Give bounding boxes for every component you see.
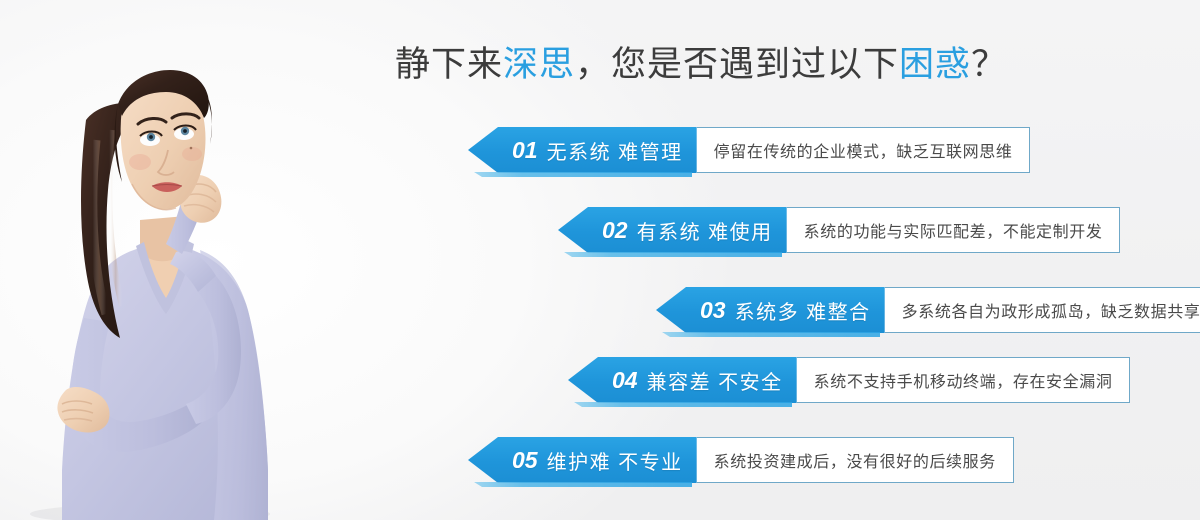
pain-point-tag[interactable]: 03 系统多 难整合 — [656, 287, 885, 333]
tag-bottom-lip — [474, 482, 692, 487]
tag-bottom-lip — [474, 172, 692, 177]
pain-point-tag[interactable]: 01 无系统 难管理 — [468, 127, 697, 173]
pain-point-tag[interactable]: 05 维护难 不专业 — [468, 437, 697, 483]
pain-point-description: 停留在传统的企业模式，缺乏互联网思维 — [697, 127, 1031, 173]
headline-part-2: ，您是否遇到过以下 — [575, 45, 899, 84]
pain-point-number: 04 — [612, 367, 638, 394]
tag-bottom-lip — [662, 332, 880, 337]
pain-point-number: 01 — [512, 137, 538, 164]
pain-point-number: 03 — [700, 297, 726, 324]
pain-point-title: 维护难 不专业 — [547, 446, 683, 475]
pain-point-number: 05 — [512, 447, 538, 474]
headline-accent-2: 困惑 — [899, 45, 971, 84]
pain-point-tag[interactable]: 02 有系统 难使用 — [558, 207, 787, 253]
pain-point-row[interactable]: 03 系统多 难整合 多系统各自为政形成孤岛，缺乏数据共享 — [656, 287, 1200, 333]
pain-point-description: 系统不支持手机移动终端，存在安全漏洞 — [797, 357, 1131, 403]
tag-bottom-lip — [564, 252, 782, 257]
pain-point-title: 系统多 难整合 — [735, 296, 871, 325]
pain-point-row[interactable]: 05 维护难 不专业 系统投资建成后，没有很好的后续服务 — [468, 437, 1014, 483]
pain-point-title: 有系统 难使用 — [637, 216, 773, 245]
pain-point-description: 多系统各自为政形成孤岛，缺乏数据共享 — [885, 287, 1200, 333]
pain-point-title: 兼容差 不安全 — [647, 366, 783, 395]
tag-bottom-lip — [574, 402, 792, 407]
headline-part-1: 静下来 — [395, 45, 503, 84]
pain-point-description: 系统投资建成后，没有很好的后续服务 — [697, 437, 1014, 483]
pain-point-row[interactable]: 01 无系统 难管理 停留在传统的企业模式，缺乏互联网思维 — [468, 127, 1030, 173]
headline-accent-1: 深思 — [503, 45, 575, 84]
page-title: 静下来深思，您是否遇到过以下困惑？ — [395, 43, 1007, 87]
pain-point-number: 02 — [602, 217, 628, 244]
pain-point-title: 无系统 难管理 — [547, 136, 683, 165]
hero-photo-thoughtful-woman — [0, 0, 330, 520]
pain-point-row[interactable]: 04 兼容差 不安全 系统不支持手机移动终端，存在安全漏洞 — [568, 357, 1130, 403]
pain-point-tag[interactable]: 04 兼容差 不安全 — [568, 357, 797, 403]
pain-point-description: 系统的功能与实际匹配差，不能定制开发 — [787, 207, 1121, 253]
headline-part-3: ？ — [971, 45, 1007, 84]
pain-point-row[interactable]: 02 有系统 难使用 系统的功能与实际匹配差，不能定制开发 — [558, 207, 1120, 253]
